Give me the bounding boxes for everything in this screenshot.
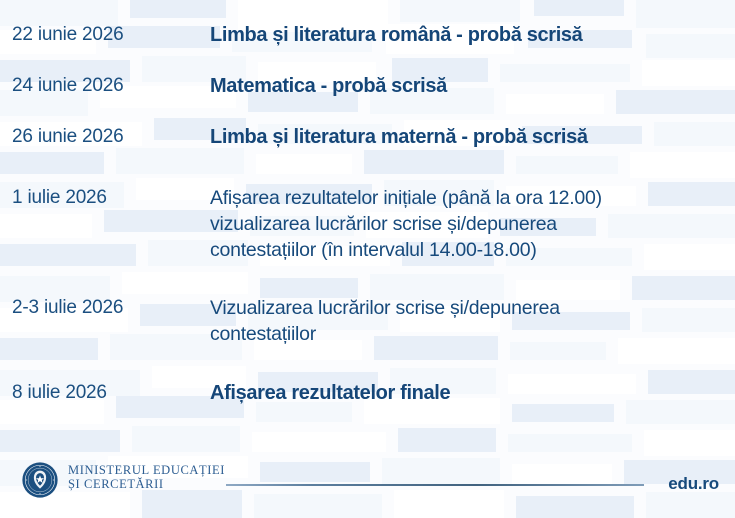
table-row: 22 iunie 2026 Limba și literatura română… (0, 22, 735, 48)
row-description-line: contestațiilor (în intervalul 14.00-18.0… (210, 237, 727, 263)
row-description-line: Afișarea rezultatelor finale (210, 380, 727, 406)
table-row: 24 iunie 2026 Matematica - probă scrisă (0, 73, 735, 99)
row-date: 8 iulie 2026 (0, 380, 210, 406)
ministry-name-line1: MINISTERUL EDUCAȚIEI (68, 464, 225, 478)
row-description: Afișarea rezultatelor finale (210, 380, 735, 406)
table-row: 2-3 iulie 2026 Vizualizarea lucrărilor s… (0, 295, 735, 347)
exam-schedule-poster: 22 iunie 2026 Limba și literatura română… (0, 0, 735, 518)
row-description-line: contestațiilor (210, 321, 727, 347)
website-label[interactable]: edu.ro (668, 474, 719, 494)
footer: MINISTERUL EDUCAȚIEI ȘI CERCETĂRII edu.r… (0, 448, 735, 518)
row-description: Vizualizarea lucrărilor scrise și/depune… (210, 295, 735, 347)
row-description-line: Matematica - probă scrisă (210, 73, 727, 99)
ministry-name-line2: ȘI CERCETĂRII (68, 478, 225, 492)
row-date: 22 iunie 2026 (0, 22, 210, 48)
table-row: 26 iunie 2026 Limba și literatura matern… (0, 124, 735, 150)
row-description-line: Vizualizarea lucrărilor scrise și/depune… (210, 295, 727, 321)
row-date: 2-3 iulie 2026 (0, 295, 210, 321)
table-row: 1 iulie 2026 Afișarea rezultatelor iniți… (0, 185, 735, 263)
row-description: Matematica - probă scrisă (210, 73, 735, 99)
row-description-line: Limba și literatura maternă - probă scri… (210, 124, 727, 150)
table-row: 8 iulie 2026 Afișarea rezultatelor final… (0, 380, 735, 406)
row-description-line: Afișarea rezultatelor inițiale (până la … (210, 185, 727, 211)
row-description: Limba și literatura maternă - probă scri… (210, 124, 735, 150)
footer-divider (226, 484, 644, 486)
row-description-line: Limba și literatura română - probă scris… (210, 22, 727, 48)
row-date: 26 iunie 2026 (0, 124, 210, 150)
row-description-line: vizualizarea lucrărilor scrise și/depune… (210, 211, 727, 237)
ministry-name: MINISTERUL EDUCAȚIEI ȘI CERCETĂRII (68, 464, 225, 491)
row-description: Limba și literatura română - probă scris… (210, 22, 735, 48)
row-date: 24 iunie 2026 (0, 73, 210, 99)
row-description: Afișarea rezultatelor inițiale (până la … (210, 185, 735, 263)
romania-coat-of-arms-seal-icon (22, 462, 58, 498)
row-date: 1 iulie 2026 (0, 185, 210, 211)
